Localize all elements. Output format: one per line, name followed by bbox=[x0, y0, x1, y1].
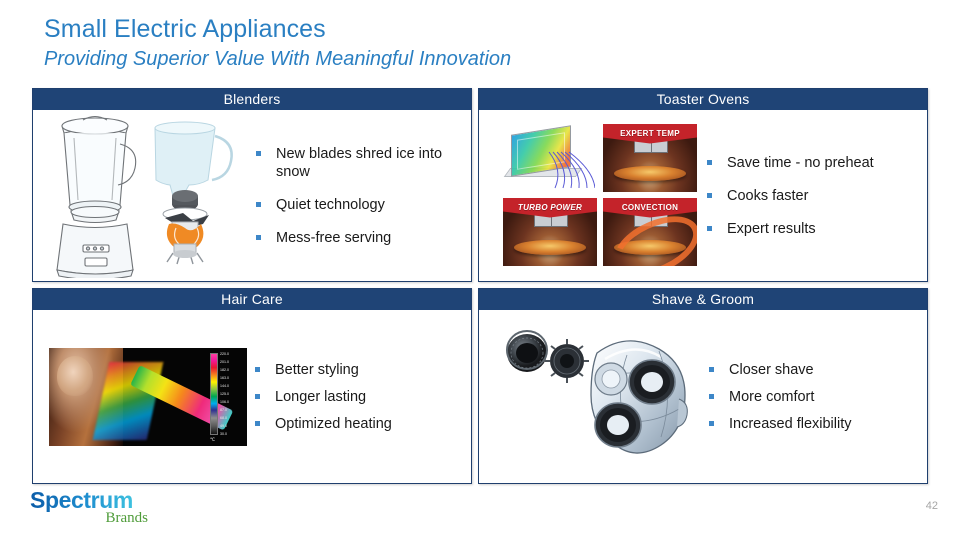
blender-product-image bbox=[33, 108, 248, 283]
bullets-blenders: New blades shred ice into snow Quiet tec… bbox=[248, 145, 471, 247]
cfd-thermal-simulation-tile bbox=[503, 124, 597, 192]
inner-cutter-part bbox=[545, 339, 589, 383]
bullet-text: Save time - no preheat bbox=[727, 155, 874, 171]
bullet-square-icon bbox=[255, 421, 260, 426]
bullet-square-icon bbox=[709, 394, 714, 399]
bullets-hair-care: Better styling Longer lasting Optimized … bbox=[247, 361, 471, 433]
panel-header-blenders: Blenders bbox=[33, 89, 471, 110]
thermal-color-legend: 220.0 201.0 182.0 163.0 144.0 125.0 106.… bbox=[210, 353, 244, 443]
oven-feature-grid: EXPERT TEMP TURBO POWER CONVECTION bbox=[503, 124, 699, 268]
title-block: Small Electric Appliances Providing Supe… bbox=[44, 14, 924, 72]
list-item: Closer shave bbox=[707, 361, 927, 379]
panel-header-hair-care: Hair Care bbox=[33, 289, 471, 310]
bullet-text: Expert results bbox=[727, 221, 816, 237]
bullet-square-icon bbox=[709, 367, 714, 372]
legend-tick: 68.0 bbox=[220, 416, 244, 420]
legend-tick: 106.0 bbox=[220, 400, 244, 404]
hair-care-thermal-image: 220.0 201.0 182.0 163.0 144.0 125.0 106.… bbox=[33, 348, 247, 446]
legend-tick: 201.0 bbox=[220, 360, 244, 364]
legend-tick: 87.0 bbox=[220, 408, 244, 412]
panel-body-toaster-ovens: EXPERT TEMP TURBO POWER CONVECTION Save … bbox=[479, 110, 927, 281]
expert-temp-tile: EXPERT TEMP bbox=[603, 124, 697, 192]
list-item: Mess-free serving bbox=[254, 229, 471, 247]
panel-shave-groom: Shave & Groom bbox=[478, 288, 928, 484]
bullet-text: Quiet technology bbox=[276, 197, 385, 213]
list-item: More comfort bbox=[707, 388, 927, 406]
bullet-square-icon bbox=[707, 193, 712, 198]
panel-body-shave-groom: Closer shave More comfort Increased flex… bbox=[479, 310, 927, 483]
page-number: 42 bbox=[926, 500, 938, 512]
cutter-ring-part bbox=[507, 331, 547, 372]
logo-primary-text: Spectrum bbox=[30, 488, 180, 512]
legend-tick: 125.0 bbox=[220, 392, 244, 396]
bullet-square-icon bbox=[255, 394, 260, 399]
bullets-toaster-ovens: Save time - no preheat Cooks faster Expe… bbox=[699, 154, 927, 238]
panel-toaster-ovens: Toaster Ovens bbox=[478, 88, 928, 282]
list-item: Optimized heating bbox=[253, 415, 471, 433]
page-title: Small Electric Appliances bbox=[44, 14, 924, 44]
bullet-text: Closer shave bbox=[729, 362, 814, 378]
panel-body-hair-care: 220.0 201.0 182.0 163.0 144.0 125.0 106.… bbox=[33, 310, 471, 483]
shaver-cad-illustration-svg bbox=[501, 319, 701, 469]
bullet-text: New blades shred ice into snow bbox=[276, 146, 442, 180]
bullet-text: More comfort bbox=[729, 389, 814, 405]
bullet-text: Increased flexibility bbox=[729, 416, 852, 432]
bullet-text: Cooks faster bbox=[727, 188, 808, 204]
legend-unit-label: ℃ bbox=[210, 437, 215, 443]
list-item: Quiet technology bbox=[254, 196, 471, 214]
bullet-square-icon bbox=[256, 202, 261, 207]
panel-hair-care: Hair Care 220.0 201.0 182.0 163.0 144.0 … bbox=[32, 288, 472, 484]
bullet-square-icon bbox=[256, 235, 261, 240]
shaver-product-image bbox=[479, 319, 701, 474]
convection-tile: CONVECTION bbox=[603, 198, 697, 266]
list-item: Longer lasting bbox=[253, 388, 471, 406]
bullet-text: Longer lasting bbox=[275, 389, 366, 405]
legend-tick: 49.0 bbox=[220, 424, 244, 428]
legend-tick: 163.0 bbox=[220, 376, 244, 380]
bullet-square-icon bbox=[707, 160, 712, 165]
panel-header-shave-groom: Shave & Groom bbox=[479, 289, 927, 310]
list-item: Save time - no preheat bbox=[705, 154, 927, 172]
bullet-square-icon bbox=[709, 421, 714, 426]
bullet-text: Optimized heating bbox=[275, 416, 392, 432]
bullets-shave-groom: Closer shave More comfort Increased flex… bbox=[701, 361, 927, 433]
thermal-simulation-canvas: 220.0 201.0 182.0 163.0 144.0 125.0 106.… bbox=[49, 348, 247, 446]
legend-tick: 144.0 bbox=[220, 384, 244, 388]
page-subtitle: Providing Superior Value With Meaningful… bbox=[44, 46, 924, 72]
legend-tick-labels: 220.0 201.0 182.0 163.0 144.0 125.0 106.… bbox=[220, 352, 244, 436]
spectrum-brands-logo: Spectrum Brands bbox=[30, 488, 180, 530]
panel-blenders: Blenders bbox=[32, 88, 472, 282]
toaster-oven-product-image: EXPERT TEMP TURBO POWER CONVECTION bbox=[479, 124, 699, 268]
list-item: Better styling bbox=[253, 361, 471, 379]
panel-body-blenders: New blades shred ice into snow Quiet tec… bbox=[33, 110, 471, 281]
bullet-square-icon bbox=[256, 151, 261, 156]
legend-tick: 182.0 bbox=[220, 368, 244, 372]
legend-tick: 220.0 bbox=[220, 352, 244, 356]
bullet-square-icon bbox=[707, 226, 712, 231]
cfd-airflow-streamlines bbox=[547, 150, 595, 190]
list-item: Increased flexibility bbox=[707, 415, 927, 433]
list-item: Cooks faster bbox=[705, 187, 927, 205]
panel-header-toaster-ovens: Toaster Ovens bbox=[479, 89, 927, 110]
blender-illustration-svg bbox=[33, 108, 248, 278]
legend-color-bar bbox=[210, 353, 218, 435]
list-item: New blades shred ice into snow bbox=[254, 145, 471, 181]
bullet-square-icon bbox=[255, 367, 260, 372]
list-item: Expert results bbox=[705, 220, 927, 238]
legend-tick: 30.0 bbox=[220, 432, 244, 436]
bullet-text: Mess-free serving bbox=[276, 230, 391, 246]
turbo-power-tile: TURBO POWER bbox=[503, 198, 597, 266]
shaver-head-body bbox=[591, 341, 687, 453]
bullet-text: Better styling bbox=[275, 362, 359, 378]
